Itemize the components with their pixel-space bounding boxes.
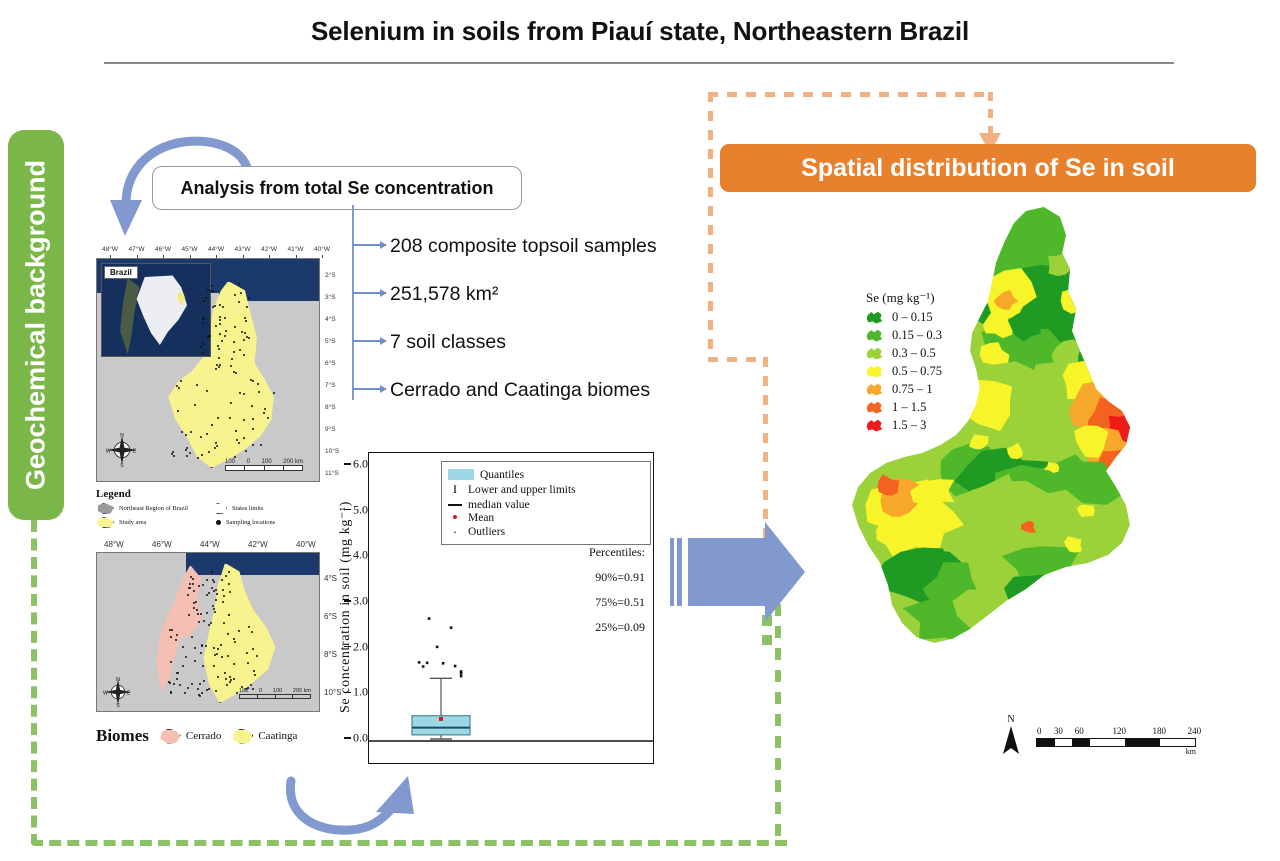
sampling-point — [199, 695, 201, 697]
scale-unit-label: km — [1036, 747, 1196, 756]
sampling-point — [182, 646, 184, 648]
sampling-point — [210, 622, 212, 624]
legend-label: 0 – 0.15 — [892, 310, 933, 325]
svg-text:E: E — [133, 449, 137, 455]
sampling-point — [173, 455, 175, 457]
sampling-point — [200, 346, 202, 348]
sampling-point — [233, 663, 235, 665]
svg-text:N: N — [116, 677, 120, 683]
analysis-box-label: Analysis from total Se concentration — [180, 178, 493, 199]
sampling-point — [215, 368, 217, 370]
sampling-point — [195, 601, 197, 603]
boxplot-y-axis: 0.01.02.03.04.05.06.0 — [344, 452, 368, 762]
lon-tick-label: 40°W — [296, 540, 316, 549]
sampling-point — [176, 634, 178, 636]
sampling-point — [221, 340, 223, 342]
sampling-point — [206, 594, 208, 596]
sampling-point — [205, 297, 207, 299]
page-title: Selenium in soils from Piauí state, Nort… — [0, 16, 1280, 47]
spatial-distribution-label: Spatial distribution of Se in soil — [801, 154, 1175, 183]
brazil-inset-map: Brazil — [101, 263, 211, 357]
curved-arrow-bottom-icon — [258, 768, 428, 838]
sampling-point — [203, 680, 205, 682]
legend-label: Cerrado — [186, 730, 221, 742]
sampling-point — [213, 608, 215, 610]
lon-tick-label: 45°W — [182, 246, 198, 253]
sampling-point — [206, 579, 208, 581]
map-scale-bar: 1000100200 km — [225, 459, 303, 471]
legend-item-class-4: 0.5 – 0.75 — [866, 364, 1016, 379]
compass-rose-icon: N S W E — [105, 433, 139, 467]
sampling-point — [247, 687, 249, 689]
class-swatch — [866, 365, 883, 378]
sampling-point — [215, 599, 217, 601]
sampling-point — [217, 648, 219, 650]
lon-tick-label: 42°W — [261, 246, 277, 253]
se-map-legend: Se (mg kg⁻¹) 0 – 0.15 0.15 – 0.3 0.3 – 0… — [866, 290, 1016, 436]
list-item: 251,578 km² — [352, 283, 702, 331]
y-tick — [344, 509, 351, 510]
lat-tick-label: 3°S — [325, 294, 336, 301]
lon-tick-label: 47°W — [129, 246, 145, 253]
legend-entry-mean: • Mean — [448, 512, 644, 524]
scale-bar-graphic — [1036, 738, 1196, 747]
bullet-list: 208 composite topsoil samples 251,578 km… — [352, 235, 702, 427]
sampling-point — [191, 636, 193, 638]
sampling-point — [235, 372, 237, 374]
svg-text:W: W — [106, 449, 111, 455]
lat-tick-label: 7°S — [325, 382, 336, 389]
lon-tick-label: 44°W — [208, 246, 224, 253]
sampling-point — [199, 683, 201, 685]
sampling-point — [206, 612, 208, 614]
sampling-point — [194, 647, 196, 649]
sampling-point — [241, 686, 243, 688]
north-arrow-icon: N — [1000, 712, 1022, 756]
study-area-map-axis-right: 2°S3°S4°S5°S6°S7°S8°S9°S10°S11°S — [320, 258, 344, 480]
legend-label: 0.15 – 0.3 — [892, 328, 942, 343]
sampling-point — [245, 450, 247, 452]
study-area-map[interactable]: Brazil N S W E 1000100200 km — [96, 258, 320, 482]
mean-glyph-icon: • — [448, 514, 462, 522]
sampling-point — [214, 447, 216, 449]
y-tick-label: 4.0 — [353, 548, 368, 563]
sampling-point — [185, 434, 187, 436]
sampling-point — [191, 683, 193, 685]
biomes-legend: Biomes Cerrado Caatinga — [96, 726, 346, 746]
lat-tick-label: 4°S — [325, 316, 336, 323]
legend-label: Sampling locations — [226, 519, 275, 526]
legend-item-caatinga: Caatinga — [231, 729, 297, 744]
legend-entry-quantiles: Quantiles — [448, 469, 644, 481]
legend-label: Study area — [119, 519, 146, 526]
sampling-point — [243, 354, 245, 356]
sampling-point — [250, 684, 252, 686]
bullet-label: 251,578 km² — [390, 283, 498, 306]
sampling-point — [217, 417, 219, 419]
scale-numbers: 0 30 60 120 180 240 — [1036, 726, 1196, 738]
lat-tick-label: 9°S — [325, 426, 336, 433]
legend-label: 0.75 – 1 — [892, 382, 933, 397]
arrow-right-icon — [352, 292, 386, 294]
biomes-map-axis-top: 48°W46°W44°W42°W40°W — [96, 540, 318, 552]
legend-entry-median: median value — [448, 499, 644, 511]
sampling-point — [246, 336, 248, 338]
sampling-point — [186, 455, 188, 457]
sampling-point — [218, 357, 220, 359]
legend-item-northeast-region: Northeast Region of Brazil — [96, 503, 211, 514]
cerrado-swatch — [159, 729, 181, 744]
orange-flow-left-segment — [708, 92, 713, 362]
legend-item-class-5: 0.75 – 1 — [866, 382, 1016, 397]
quantiles-swatch — [448, 469, 474, 480]
sampling-point — [219, 316, 221, 318]
list-item: Cerrado and Caatinga biomes — [352, 379, 702, 427]
sampling-point — [184, 692, 186, 694]
se-distribution-map[interactable] — [830, 205, 1190, 715]
sampling-point — [240, 292, 242, 294]
sampling-point — [185, 449, 187, 451]
sampling-point — [236, 692, 238, 694]
sampling-point — [248, 337, 250, 339]
y-tick-label: 3.0 — [353, 594, 368, 609]
orange-flow-top-segment — [708, 92, 993, 97]
class-swatch — [866, 383, 883, 396]
svg-text:N: N — [120, 433, 124, 438]
lat-tick-label: 6°S — [325, 360, 336, 367]
sampling-point — [238, 301, 240, 303]
northeast-region-swatch — [96, 503, 114, 514]
sampling-point — [202, 665, 204, 667]
states-limits-swatch — [211, 503, 227, 514]
sampling-point — [258, 391, 260, 393]
caatinga-swatch — [231, 729, 253, 744]
bullet-label: Cerrado and Caatinga biomes — [390, 379, 650, 402]
sampling-point — [179, 684, 181, 686]
sampling-point — [251, 405, 253, 407]
sampling-point — [234, 456, 236, 458]
sampling-point — [252, 444, 254, 446]
sampling-point — [219, 319, 221, 321]
sampling-point — [225, 330, 227, 332]
sampling-point — [182, 665, 184, 667]
sampling-point — [189, 583, 191, 585]
big-blue-arrow-icon — [660, 520, 840, 630]
se-legend-title: Se (mg kg⁻¹) — [866, 290, 1016, 306]
outlier-glyph-icon: · — [448, 528, 462, 536]
sampling-point — [215, 442, 217, 444]
legend-item-states-limits: States limits — [211, 503, 326, 514]
study-area-map-axis-top: 48°W47°W46°W45°W44°W43°W42°W41°W40°W — [96, 246, 318, 258]
sampling-point — [222, 589, 224, 591]
sampling-point — [220, 644, 222, 646]
sampling-point — [212, 290, 214, 292]
svg-text:S: S — [116, 703, 120, 707]
class-swatch — [866, 311, 883, 324]
sampling-point — [189, 452, 191, 454]
sampling-point — [233, 351, 235, 353]
sampling-point — [198, 585, 200, 587]
analysis-box[interactable]: Analysis from total Se concentration — [152, 166, 522, 210]
lon-tick-label: 41°W — [288, 246, 304, 253]
legend-label: 0.5 – 0.75 — [892, 364, 942, 379]
legend-label: States limits — [232, 505, 263, 512]
sampling-point — [202, 584, 204, 586]
sampling-point — [238, 442, 240, 444]
boxplot-chart[interactable]: Quantiles I Lower and upper limits media… — [368, 452, 654, 764]
legend-label: Lower and upper limits — [468, 484, 576, 496]
sampling-point — [229, 591, 231, 593]
sampling-point — [211, 285, 213, 287]
svg-text:E: E — [127, 690, 131, 696]
brazil-polygon — [132, 274, 190, 348]
sampling-point — [197, 688, 199, 690]
y-tick — [344, 555, 351, 556]
sampling-point — [260, 444, 262, 446]
legend-item-class-2: 0.15 – 0.3 — [866, 328, 1016, 343]
orange-flow-arrow-stem — [988, 92, 993, 137]
lon-tick-label: 40°W — [314, 246, 330, 253]
sampling-point — [216, 445, 218, 447]
sampling-point — [228, 583, 230, 585]
sampling-point — [212, 605, 214, 607]
svg-text:N: N — [1007, 714, 1014, 725]
lat-tick-label: 2°S — [325, 272, 336, 279]
sampling-point — [192, 583, 194, 585]
legend-label: Caatinga — [258, 730, 297, 742]
sampling-location-swatch — [216, 520, 221, 525]
sampling-point — [267, 417, 269, 419]
sampling-point — [176, 672, 178, 674]
lon-tick-label: 43°W — [235, 246, 251, 253]
sampling-point — [252, 648, 254, 650]
class-swatch — [866, 419, 883, 432]
sampling-point — [234, 326, 236, 328]
sampling-point — [172, 451, 174, 453]
legend-item-study-area: Study area — [96, 517, 211, 528]
legend-label: Mean — [468, 512, 494, 524]
legend-item-class-6: 1 – 1.5 — [866, 400, 1016, 415]
legend-item-class-7: 1.5 – 3 — [866, 418, 1016, 433]
legend-label: median value — [468, 499, 530, 511]
y-tick — [344, 646, 351, 647]
sampling-point — [225, 678, 227, 680]
median-glyph-icon — [448, 504, 462, 506]
list-item: 7 soil classes — [352, 331, 702, 379]
y-tick-label: 0.0 — [353, 731, 368, 746]
y-tick-label: 2.0 — [353, 639, 368, 654]
legend-item-class-1: 0 – 0.15 — [866, 310, 1016, 325]
legend-entry-outliers: · Outliers — [448, 526, 644, 538]
sampling-point — [227, 633, 229, 635]
spatial-distribution-banner[interactable]: Spatial distribution of Se in soil — [720, 144, 1256, 192]
limits-glyph-icon: I — [448, 482, 462, 497]
sampling-point — [211, 587, 213, 589]
svg-text:S: S — [120, 463, 124, 467]
sampling-point — [208, 592, 210, 594]
sampling-point — [208, 688, 210, 690]
class-swatch — [866, 401, 883, 414]
sampling-point — [201, 692, 203, 694]
legend-label: Northeast Region of Brazil — [119, 505, 188, 512]
sampling-point — [169, 682, 171, 684]
sampling-point — [203, 620, 205, 622]
y-tick — [344, 692, 351, 693]
lat-tick-label: 8°S — [325, 404, 336, 411]
legend-title: Legend — [96, 488, 326, 500]
geochemical-background-label: Geochemical background — [21, 160, 52, 490]
y-tick — [344, 600, 351, 601]
sampling-point — [206, 433, 208, 435]
sampling-point — [193, 590, 195, 592]
lon-tick-label: 46°W — [155, 246, 171, 253]
sampling-point — [208, 335, 210, 337]
sampling-point — [188, 614, 190, 616]
sampling-point — [254, 674, 256, 676]
lon-tick-label: 44°W — [200, 540, 220, 549]
sampling-point — [187, 687, 189, 689]
arrow-right-icon — [352, 244, 386, 246]
legend-label: 0.3 – 0.5 — [892, 346, 936, 361]
percentile-p90: 90%=0.91 — [589, 570, 645, 585]
sampling-point — [200, 613, 202, 615]
sampling-point — [176, 385, 178, 387]
sampling-point — [175, 639, 177, 641]
compass-rose-icon: N S W E — [103, 677, 133, 707]
sampling-point — [247, 662, 249, 664]
lon-tick-label: 48°W — [102, 246, 118, 253]
percentiles-annotation: Percentiles: 90%=0.91 75%=0.51 25%=0.09 — [589, 545, 645, 645]
legend-label: 1 – 1.5 — [892, 400, 926, 415]
title-divider — [104, 62, 1174, 64]
sampling-point — [181, 431, 183, 433]
map-scale-bar: 1000100200 km — [239, 688, 311, 699]
sampling-point — [202, 352, 204, 354]
sampling-point — [236, 439, 238, 441]
sampling-point — [200, 652, 202, 654]
se-map-scale-bar: 0 30 60 120 180 240 km — [1036, 726, 1196, 756]
y-tick — [344, 463, 351, 464]
lon-tick-label: 46°W — [152, 540, 172, 549]
list-item: 208 composite topsoil samples — [352, 235, 702, 283]
sampling-point — [192, 578, 194, 580]
y-tick-label: 5.0 — [353, 502, 368, 517]
sampling-point — [238, 630, 240, 632]
sampling-point — [273, 392, 275, 394]
sampling-point — [233, 678, 235, 680]
sampling-point — [185, 656, 187, 658]
biomes-legend-title: Biomes — [96, 726, 149, 746]
legend-item-cerrado: Cerrado — [159, 729, 221, 744]
biomes-map[interactable]: N S W E 1000100200 km — [96, 552, 320, 712]
sampling-point — [223, 622, 225, 624]
sampling-point — [193, 607, 195, 609]
sampling-point — [186, 447, 188, 449]
sampling-point — [219, 323, 221, 325]
sampling-point — [176, 678, 178, 680]
study-area-legend: Legend Northeast Region of Brazil States… — [96, 488, 326, 531]
arrow-right-icon — [352, 340, 386, 342]
legend-label: 1.5 – 3 — [892, 418, 926, 433]
percentiles-title: Percentiles: — [589, 545, 645, 560]
geochemical-background-tab[interactable]: Geochemical background — [8, 130, 64, 520]
boxplot-legend: Quantiles I Lower and upper limits media… — [441, 461, 651, 545]
sampling-point — [177, 410, 179, 412]
lat-tick-label: 5°S — [325, 338, 336, 345]
sampling-point — [215, 690, 217, 692]
svg-text:W: W — [103, 690, 108, 696]
brazil-inset-label: Brazil — [104, 266, 138, 279]
legend-label: Quantiles — [480, 469, 524, 481]
study-area-swatch — [96, 517, 114, 528]
legend-entry-limits: I Lower and upper limits — [448, 482, 644, 497]
sampling-point — [233, 638, 235, 640]
y-tick — [344, 737, 351, 738]
y-tick-label: 1.0 — [353, 685, 368, 700]
sampling-point — [203, 317, 205, 319]
class-swatch — [866, 329, 883, 342]
sampling-point — [197, 457, 199, 459]
y-tick-label: 6.0 — [353, 457, 368, 472]
bullet-label: 7 soil classes — [390, 331, 506, 354]
legend-label: Outliers — [468, 526, 505, 538]
lon-tick-label: 42°W — [248, 540, 268, 549]
bullet-label: 208 composite topsoil samples — [390, 235, 657, 258]
lon-tick-label: 48°W — [104, 540, 124, 549]
sampling-point — [200, 436, 202, 438]
sampling-point — [194, 660, 196, 662]
arrow-right-icon — [352, 388, 386, 390]
sampling-point — [252, 418, 254, 420]
sampling-point — [170, 692, 172, 694]
percentile-p75: 75%=0.51 — [589, 595, 645, 610]
orange-flow-bottom-segment — [708, 357, 768, 362]
sampling-point — [208, 624, 210, 626]
ocean-area — [186, 553, 319, 575]
sampling-point — [244, 332, 246, 334]
class-swatch — [866, 347, 883, 360]
sampling-point — [173, 683, 175, 685]
legend-item-class-3: 0.3 – 0.5 — [866, 346, 1016, 361]
legend-item-sampling-locations: Sampling locations — [211, 517, 326, 528]
percentile-p25: 25%=0.09 — [589, 620, 645, 635]
sampling-point — [213, 581, 215, 583]
sampling-point — [194, 404, 196, 406]
